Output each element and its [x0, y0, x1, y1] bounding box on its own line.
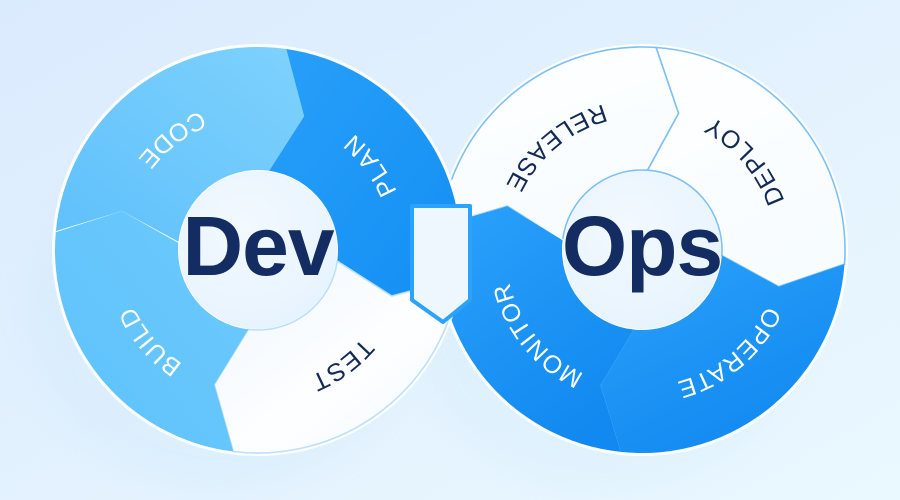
core-label-dev: Dev	[182, 199, 334, 293]
crossing-connector	[412, 206, 470, 322]
devops-loop-svg: DevOps CODEPLANTESTBUILDRELEASEDEPLOYOPE…	[0, 0, 900, 500]
devops-infinity-diagram: DevOps CODEPLANTESTBUILDRELEASEDEPLOYOPE…	[0, 0, 900, 500]
core-label-ops: Ops	[562, 199, 722, 293]
loop-crossing	[412, 206, 470, 322]
